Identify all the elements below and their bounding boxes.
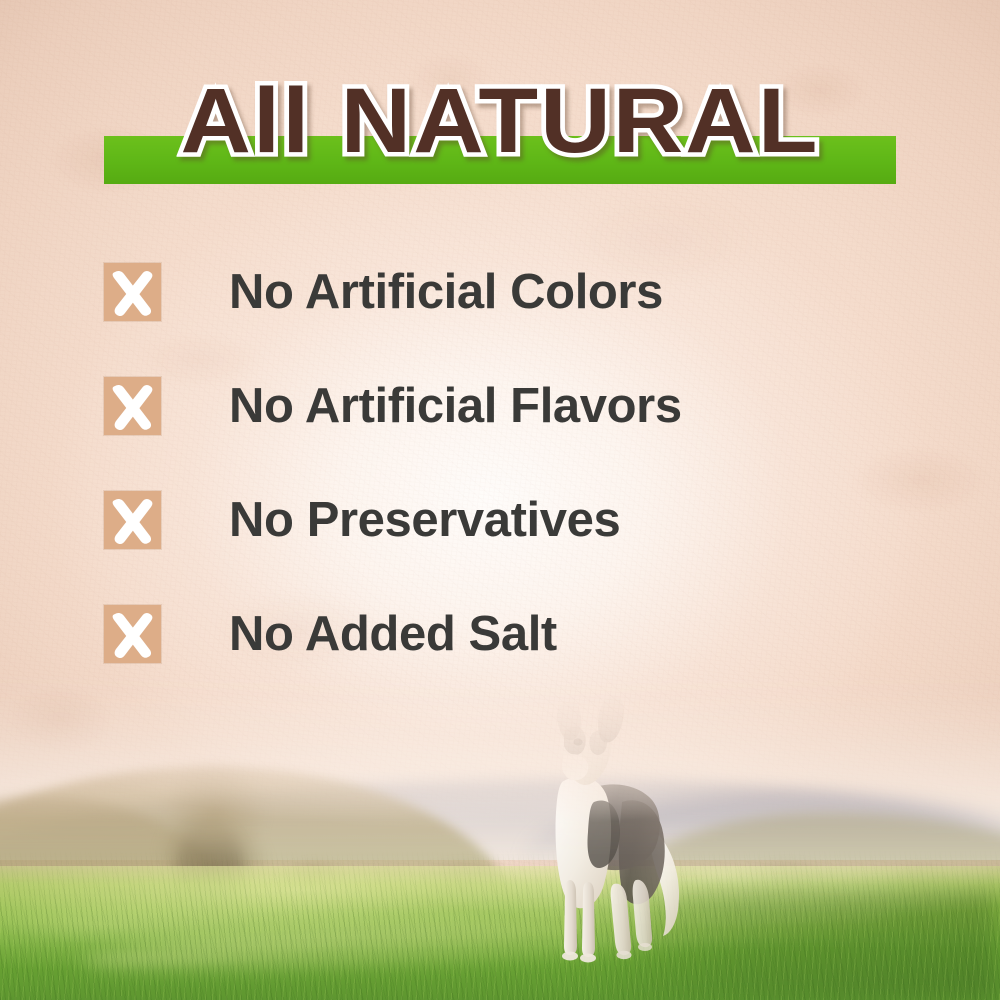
list-item: No Artificial Flavors: [104, 376, 904, 436]
list-item: No Preservatives: [104, 490, 904, 550]
claims-list: No Artificial Colors No Artificial Flavo…: [104, 262, 904, 718]
list-item: No Added Salt: [104, 604, 904, 664]
page-title: All NATURAL: [0, 78, 1000, 164]
landscape-photo-inner: [0, 670, 1000, 1000]
list-item-label: No Preservatives: [229, 491, 620, 549]
list-item: No Artificial Colors: [104, 262, 904, 322]
list-item-label: No Artificial Flavors: [229, 377, 682, 435]
x-mark-icon: [104, 605, 161, 663]
list-item-label: No Added Salt: [229, 605, 557, 663]
list-item-label: No Artificial Colors: [229, 263, 663, 321]
grass-blade-texture: [0, 850, 1000, 1000]
x-mark-icon: [104, 491, 161, 549]
x-mark-icon: [104, 377, 161, 435]
dog-illustration: [532, 684, 692, 969]
poster: All NATURAL No Artificial Colors No Arti…: [0, 0, 1000, 1000]
x-mark-icon: [104, 263, 161, 321]
landscape-photo: [0, 670, 1000, 1000]
